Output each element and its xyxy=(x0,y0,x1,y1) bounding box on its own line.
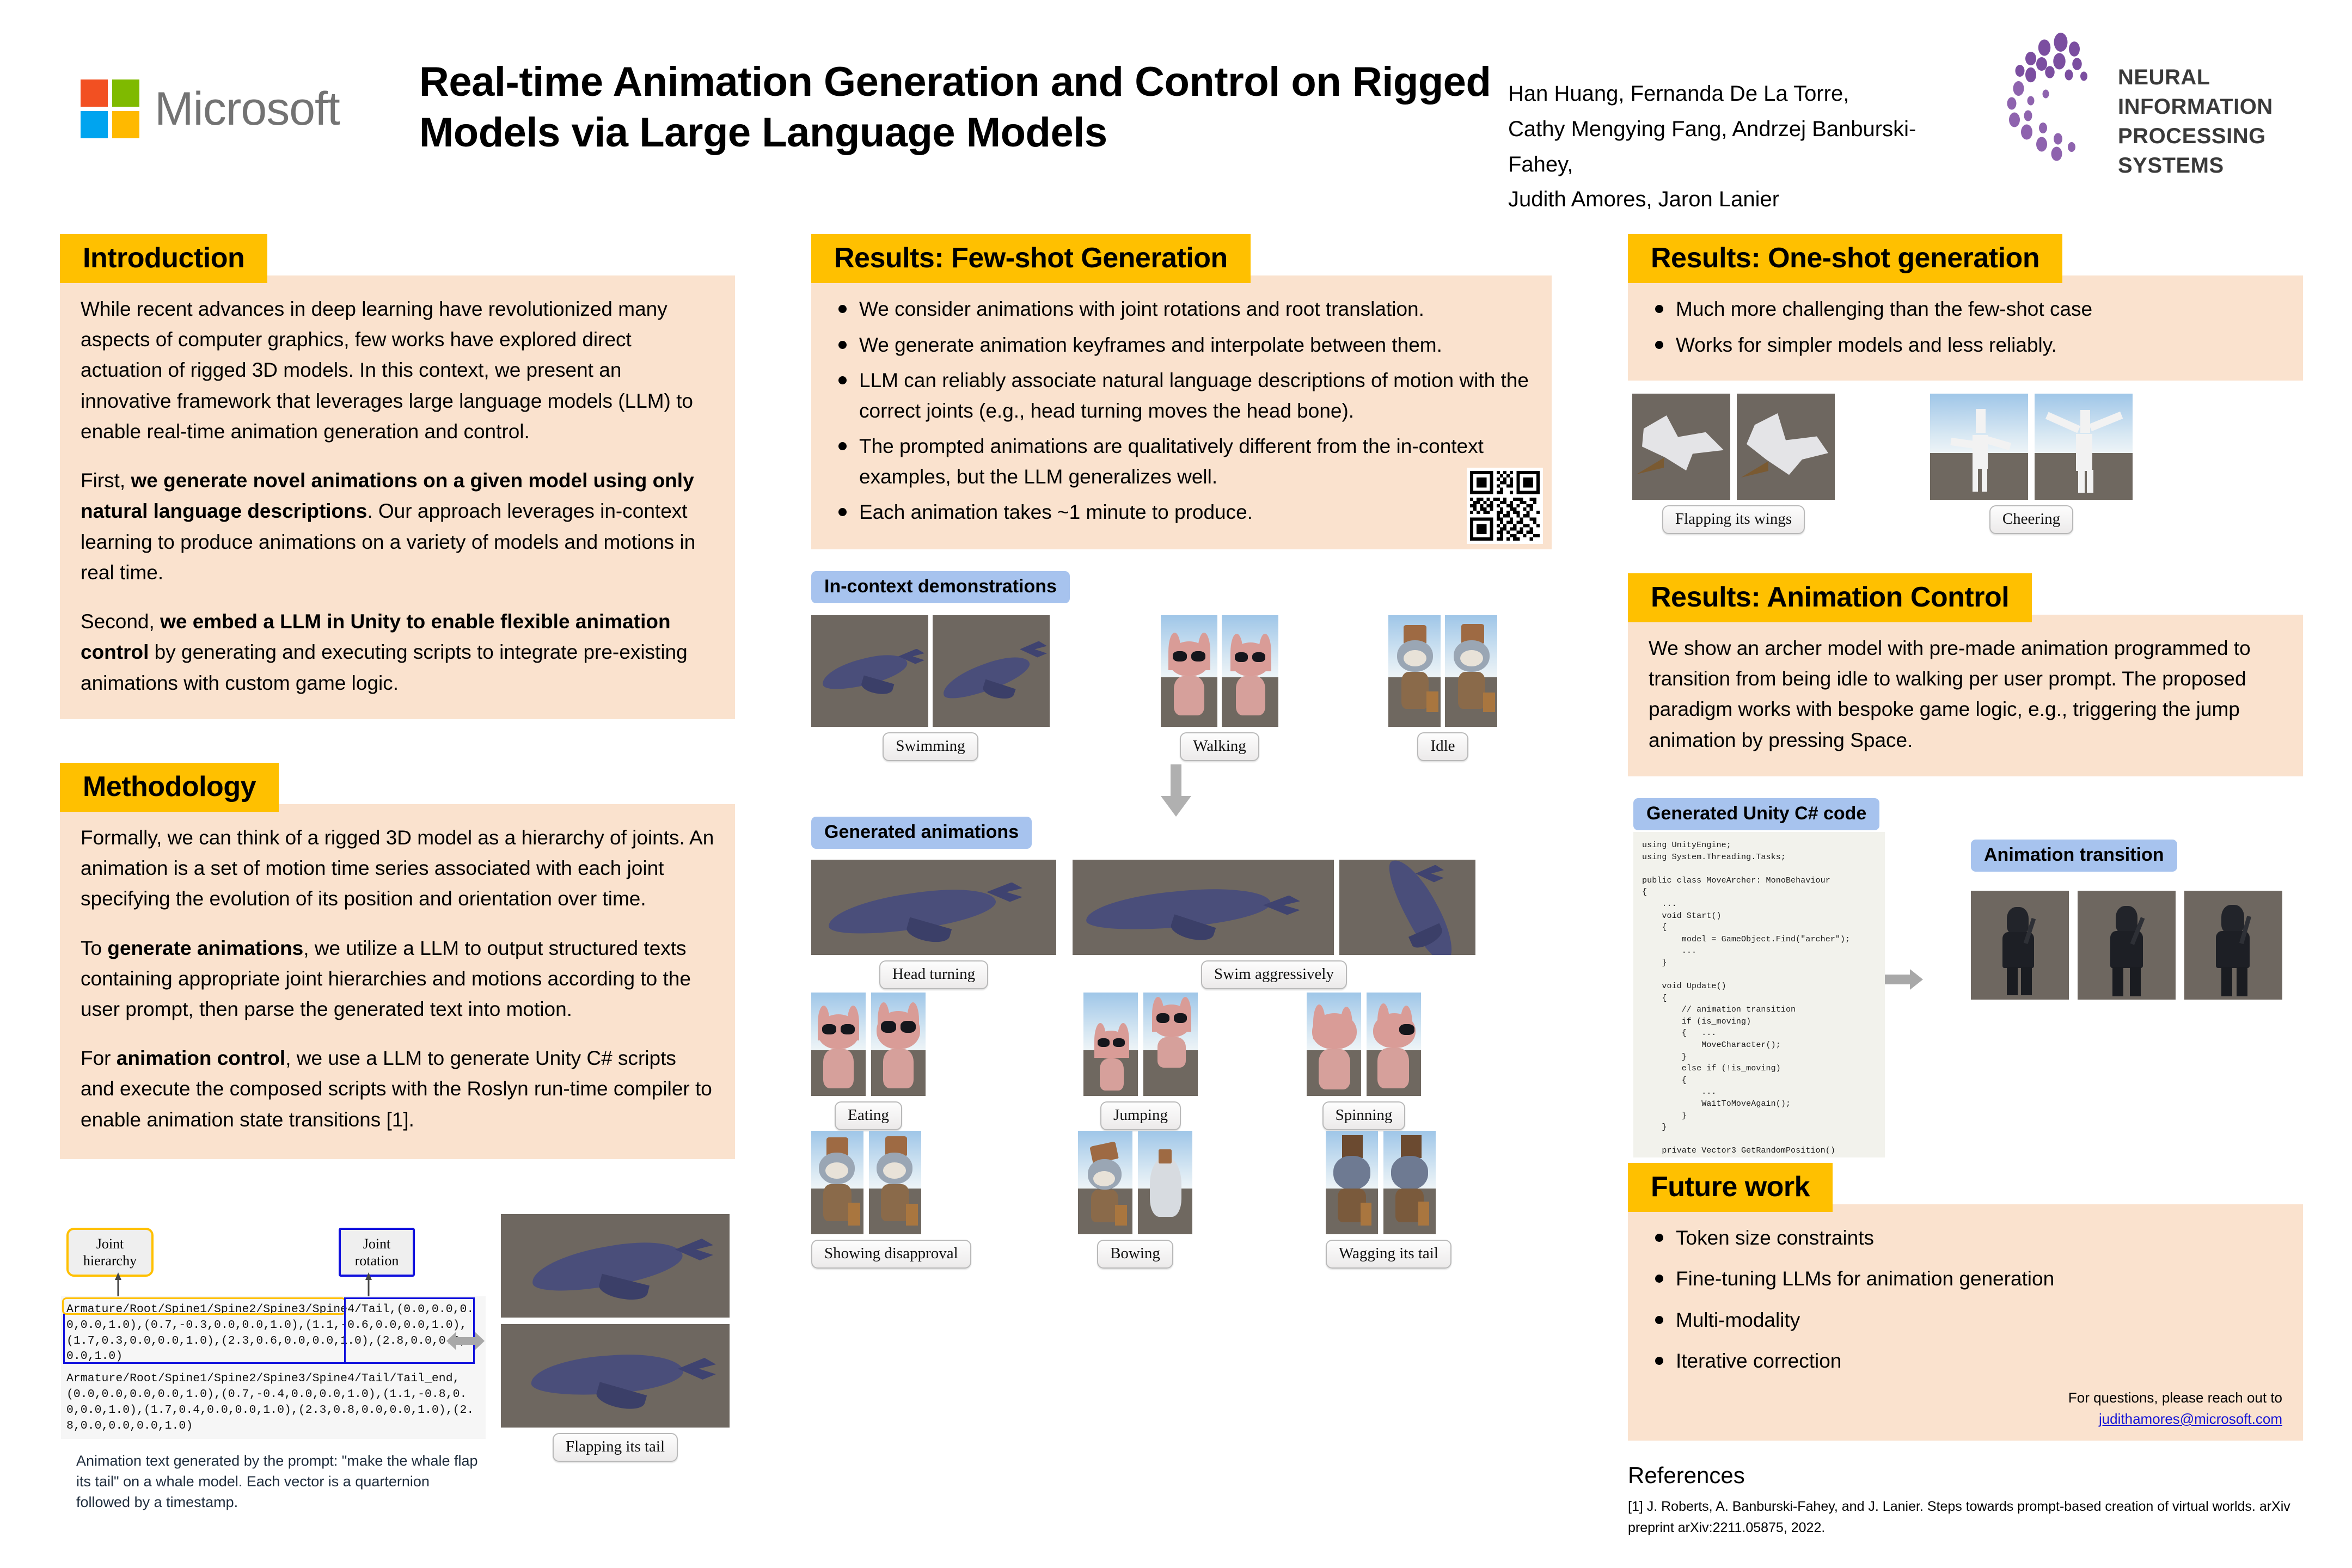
figure-caption-cheering: Cheering xyxy=(1989,505,2073,534)
section-body-few-shot: We consider animations with joint rotati… xyxy=(811,275,1552,549)
neurips-logo: NEURAL INFORMATION PROCESSING SYSTEMS xyxy=(1982,30,2319,171)
microsoft-wordmark: Microsoft xyxy=(155,85,340,132)
generated-row-2: Eating xyxy=(811,993,1552,1123)
figure-image-cheering-2 xyxy=(2035,394,2133,500)
figure-caption-swim-aggressively: Swim aggressively xyxy=(1201,960,1347,989)
contact-email-link[interactable]: judithamores@microsoft.com xyxy=(2099,1411,2282,1427)
figure-image-flapping-wings-2 xyxy=(1737,394,1835,500)
reference-item: [1] J. Roberts, A. Banburski-Fahey, and … xyxy=(1628,1496,2303,1539)
section-body-methodology: Formally, we can think of a rigged 3D mo… xyxy=(60,804,735,1159)
figure-caption-idle: Idle xyxy=(1417,732,1468,761)
highlight-rotation-box-wrap xyxy=(63,1314,475,1364)
figure-image-jumping-2 xyxy=(1143,993,1198,1096)
contact-prefix: For questions, please reach out to xyxy=(1649,1387,2282,1408)
figure-image-idle-2 xyxy=(1445,615,1497,727)
list-item: We consider animations with joint rotati… xyxy=(832,294,1531,324)
figure-caption-wrap-swimming: Swimming xyxy=(811,732,1050,761)
figure-caption-swimming: Swimming xyxy=(883,732,978,761)
figure-group-flapping-its-wings: Flapping its wings xyxy=(1632,394,1835,534)
arrow-right-icon xyxy=(1885,967,1923,992)
figure-caption-wagging-its-tail: Wagging its tail xyxy=(1326,1240,1451,1269)
list-item: The prompted animations are qualitativel… xyxy=(832,431,1531,492)
microsoft-logo: Microsoft xyxy=(81,76,385,142)
section-references: References [1] J. Roberts, A. Banburski-… xyxy=(1628,1462,2303,1539)
figure-image-swimming-2 xyxy=(933,615,1050,727)
figure-image-showing-disapproval-2 xyxy=(869,1131,921,1234)
section-heading-animation-control: Results: Animation Control xyxy=(1628,573,2032,622)
figure-caption-wrap-idle: Idle xyxy=(1388,732,1497,761)
joint-annotation-figure: Joint hierarchy Joint rotation Armature/… xyxy=(61,1228,486,1513)
section-heading-future-work: Future work xyxy=(1628,1163,1833,1212)
generated-animations-block: Generated animations Head turning xyxy=(811,817,1552,1261)
arrow-up-rotation-icon xyxy=(363,1271,374,1298)
figure-caption-jumping: Jumping xyxy=(1100,1101,1181,1130)
figure-caption-wrap-cheering: Cheering xyxy=(1930,505,2133,534)
figure-image-whale-2 xyxy=(501,1324,730,1428)
figure-image-jumping-1 xyxy=(1083,993,1138,1096)
neurips-dots-icon xyxy=(1982,30,2118,166)
few-shot-bullet-list: We consider animations with joint rotati… xyxy=(832,294,1531,528)
section-animation-control: Results: Animation Control We show an ar… xyxy=(1628,573,2303,776)
figure-image-flapping-wings-1 xyxy=(1632,394,1730,500)
intro-paragraph-2: First, we generate novel animations on a… xyxy=(81,465,714,588)
list-item: We generate animation keyframes and inte… xyxy=(832,330,1531,360)
figure-group-head-turning: Head turning xyxy=(811,860,1056,989)
section-methodology: Methodology Formally, we can think of a … xyxy=(60,763,735,1159)
figure-caption-head-turning: Head turning xyxy=(879,960,988,989)
figure-image-head-turning xyxy=(811,860,1056,955)
figure-caption-wrap-spinning: Spinning xyxy=(1307,1101,1421,1130)
neurips-line-2: PROCESSING SYSTEMS xyxy=(2118,121,2319,180)
figure-caption-wrap-wagging-its-tail: Wagging its tail xyxy=(1326,1240,1451,1269)
figure-image-wagging-its-tail-1 xyxy=(1326,1131,1378,1234)
list-item: Iterative correction xyxy=(1649,1346,2282,1376)
author-list: Han Huang, Fernanda De La Torre, Cathy M… xyxy=(1508,76,1955,217)
one-shot-bullet-list: Much more challenging than the few-shot … xyxy=(1649,294,2282,360)
figure-group-bowing: Bowing xyxy=(1078,1131,1192,1269)
flow-arrow-wrap xyxy=(811,762,1552,817)
archer-transition-strip xyxy=(1971,891,2282,1000)
one-shot-figures: Flapping its wings xyxy=(1628,394,2303,546)
column-right: Results: One-shot generation Much more c… xyxy=(1628,234,2303,1538)
section-heading-references: References xyxy=(1628,1462,2303,1489)
figure-image-archer-1 xyxy=(1971,891,2069,1000)
figure-caption-flapping-its-wings: Flapping its wings xyxy=(1662,505,1805,534)
figure-image-swim-aggressively-1 xyxy=(1073,860,1334,955)
label-in-context-demonstrations: In-context demonstrations xyxy=(811,571,1070,603)
code-block-unity-csharp: using UnityEngine; using System.Threadin… xyxy=(1633,832,1885,1157)
list-item: Much more challenging than the few-shot … xyxy=(1649,294,2282,324)
section-few-shot: Results: Few-shot Generation We consider… xyxy=(811,234,1552,549)
poster-header: Microsoft Real-time Animation Generation… xyxy=(0,0,2352,218)
arrow-up-hierarchy-icon xyxy=(113,1271,124,1298)
figure-image-wagging-its-tail-2 xyxy=(1383,1131,1436,1234)
figure-group-jumping: Jumping xyxy=(1083,993,1198,1130)
list-item: Each animation takes ~1 minute to produc… xyxy=(832,497,1531,528)
figure-image-showing-disapproval-1 xyxy=(811,1131,863,1234)
figure-image-eating-2 xyxy=(871,993,926,1096)
figure-image-swimming-1 xyxy=(811,615,928,727)
neurips-wordmark: NEURAL INFORMATION PROCESSING SYSTEMS xyxy=(2118,63,2319,180)
figure-image-bowing-2 xyxy=(1138,1131,1192,1234)
section-one-shot: Results: One-shot generation Much more c… xyxy=(1628,234,2303,381)
section-body-future-work: Token size constraints Fine-tuning LLMs … xyxy=(1628,1204,2303,1441)
figure-group-eating: Eating xyxy=(811,993,926,1130)
figure-caption-wrap-showing-disapproval: Showing disapproval xyxy=(811,1240,971,1269)
figure-group-showing-disapproval: Showing disapproval xyxy=(811,1131,971,1269)
label-generated-animations: Generated animations xyxy=(811,817,1032,849)
figure-caption-wrap-eating: Eating xyxy=(811,1101,926,1130)
generated-row-3: Showing disapproval xyxy=(811,1131,1552,1261)
figure-caption-bowing: Bowing xyxy=(1097,1240,1173,1269)
page-title: Real-time Animation Generation and Contr… xyxy=(419,57,1503,158)
column-middle: Results: Few-shot Generation We consider… xyxy=(811,234,1552,1261)
arrow-left-right-icon xyxy=(446,1328,485,1353)
figure-image-whale-1 xyxy=(501,1214,730,1318)
figure-image-swim-aggressively-2 xyxy=(1339,860,1475,955)
section-heading-introduction: Introduction xyxy=(60,234,267,283)
figure-image-walking-1 xyxy=(1161,615,1217,727)
figure-group-wagging-its-tail: Wagging its tail xyxy=(1326,1131,1451,1269)
microsoft-squares-icon xyxy=(81,79,139,138)
animation-text-line-2: Armature/Root/Spine1/Spine2/Spine3/Spine… xyxy=(64,1368,482,1437)
figure-group-swim-aggressively: Swim aggressively xyxy=(1073,860,1475,989)
figure-image-archer-3 xyxy=(2184,891,2282,1000)
figure-image-spinning-2 xyxy=(1367,993,1421,1096)
figure-image-eating-1 xyxy=(811,993,866,1096)
figure-caption-wrap-jumping: Jumping xyxy=(1083,1101,1198,1130)
list-item: Multi-modality xyxy=(1649,1305,2282,1336)
figure-caption-wrap-flapping-tail: Flapping its tail xyxy=(501,1433,730,1462)
intro-paragraph-1: While recent advances in deep learning h… xyxy=(81,294,714,447)
section-body-introduction: While recent advances in deep learning h… xyxy=(60,275,735,719)
animation-control-text: We show an archer model with pre-made an… xyxy=(1649,633,2282,756)
figure-image-idle-1 xyxy=(1388,615,1441,727)
figure-group-swimming: Swimming xyxy=(811,615,1050,761)
figure-caption-wrap-walking: Walking xyxy=(1161,732,1278,761)
section-future-work: Future work Token size constraints Fine-… xyxy=(1628,1163,2303,1441)
section-body-animation-control: We show an archer model with pre-made an… xyxy=(1628,615,2303,776)
method-paragraph-2: To generate animations, we utilize a LLM… xyxy=(81,933,714,1025)
generated-row-1: Head turning xyxy=(811,860,1552,985)
list-item: Fine-tuning LLMs for animation generatio… xyxy=(1649,1264,2282,1294)
method-paragraph-1: Formally, we can think of a rigged 3D mo… xyxy=(81,823,714,915)
figure-group-cheering: Cheering xyxy=(1930,394,2133,534)
contact-block: For questions, please reach out to judit… xyxy=(1649,1387,2282,1430)
figure-caption-wrap-flapping-its-wings: Flapping its wings xyxy=(1632,505,1835,534)
highlight-hierarchy-box xyxy=(62,1297,346,1315)
list-item: Token size constraints xyxy=(1649,1223,2282,1253)
method-paragraph-3: For animation control, we use a LLM to g… xyxy=(81,1043,714,1135)
figure-caption-showing-disapproval: Showing disapproval xyxy=(811,1240,971,1269)
neurips-line-1: NEURAL INFORMATION xyxy=(2118,63,2319,121)
figure-caption-walking: Walking xyxy=(1180,732,1259,761)
figure-caption-wrap-head-turning: Head turning xyxy=(811,960,1056,989)
callout-joint-rotation: Joint rotation xyxy=(339,1228,415,1277)
poster-root: Microsoft Real-time Animation Generation… xyxy=(0,0,2352,1568)
figure-caption-flapping-its-tail: Flapping its tail xyxy=(553,1433,678,1462)
figure-caption-eating: Eating xyxy=(835,1101,902,1130)
callout-joint-hierarchy: Joint hierarchy xyxy=(66,1228,154,1277)
demos-row: Swimming xyxy=(811,615,1552,762)
figure-image-cheering-1 xyxy=(1930,394,2028,500)
label-generated-unity-code: Generated Unity C# code xyxy=(1633,798,1879,830)
animation-text-block: Armature/Root/Spine1/Spine2/Spine3/Spine… xyxy=(61,1296,486,1439)
animation-control-figures: Generated Unity C# code using UnityEngin… xyxy=(1628,798,2303,1179)
figure-caption-wrap-bowing: Bowing xyxy=(1078,1240,1192,1269)
figure-group-walking: Walking xyxy=(1161,615,1278,761)
figure-image-bowing-1 xyxy=(1078,1131,1132,1234)
figure-image-walking-2 xyxy=(1222,615,1278,727)
figure-caption-wrap-swim-aggressively: Swim aggressively xyxy=(1073,960,1475,989)
figure-image-archer-2 xyxy=(2078,891,2176,1000)
figure-image-spinning-1 xyxy=(1307,993,1361,1096)
label-animation-transition: Animation transition xyxy=(1971,840,2177,872)
figure-caption-spinning: Spinning xyxy=(1322,1101,1406,1130)
section-introduction: Introduction While recent advances in de… xyxy=(60,234,735,719)
section-heading-one-shot: Results: One-shot generation xyxy=(1628,234,2062,283)
qr-code[interactable] xyxy=(1467,468,1543,544)
future-work-bullet-list: Token size constraints Fine-tuning LLMs … xyxy=(1649,1223,2282,1376)
arrow-down-icon xyxy=(1160,764,1192,817)
animation-text-note: Animation text generated by the prompt: … xyxy=(61,1451,486,1512)
whale-flap-figure: Flapping its tail xyxy=(501,1214,730,1462)
intro-paragraph-3: Second, we embed a LLM in Unity to enabl… xyxy=(81,607,714,699)
column-left: Introduction While recent advances in de… xyxy=(60,234,735,1181)
section-body-one-shot: Much more challenging than the few-shot … xyxy=(1628,275,2303,381)
figure-group-idle: Idle xyxy=(1388,615,1497,761)
list-item: LLM can reliably associate natural langu… xyxy=(832,365,1531,426)
section-heading-methodology: Methodology xyxy=(60,763,279,812)
list-item: Works for simpler models and less reliab… xyxy=(1649,330,2282,360)
section-heading-few-shot: Results: Few-shot Generation xyxy=(811,234,1251,283)
in-context-demonstrations-block: In-context demonstrations xyxy=(811,571,1552,762)
figure-group-spinning: Spinning xyxy=(1307,993,1421,1130)
